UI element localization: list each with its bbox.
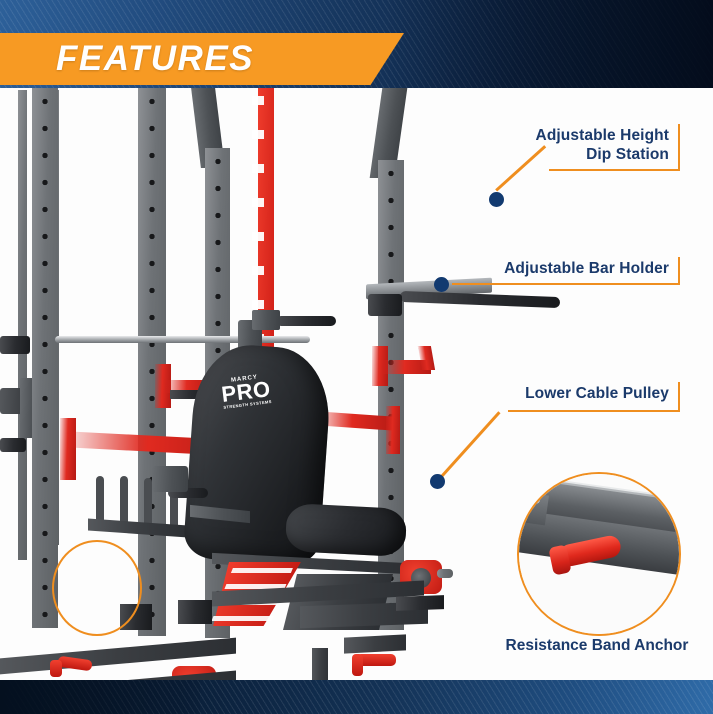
inset-label-resistance-band-anchor: Resistance Band Anchor <box>487 637 707 655</box>
dip-bracket-left <box>252 310 280 330</box>
upright-far-left <box>32 88 58 628</box>
bracket-vertical <box>678 124 681 171</box>
upright-left <box>138 88 166 636</box>
bench-seat <box>285 503 407 557</box>
base-post-lower <box>312 648 328 680</box>
inset-bolt-hole <box>530 496 540 504</box>
bracket-horizontal <box>508 410 680 413</box>
crossbar-right-upper-post <box>386 406 400 454</box>
bracket-horizontal <box>452 283 680 286</box>
base-rail-far-right <box>344 634 406 653</box>
crossbar-left-post <box>60 418 76 480</box>
cable-clamp-lower <box>0 438 26 452</box>
footer-dark-gradient <box>0 680 200 714</box>
cable-clamp-upper <box>0 336 30 354</box>
dip-station-grip-left <box>276 316 336 326</box>
page-title: FEATURES <box>56 37 254 81</box>
callout-bracket-dip-station <box>503 124 680 171</box>
callout-marker-dip-station <box>489 192 504 207</box>
inset-resistance-band-anchor <box>517 472 681 636</box>
pulley-hook-right <box>437 569 453 578</box>
callout-bracket-bar-holder <box>452 257 680 285</box>
bracket-vertical <box>678 382 681 412</box>
callout-marker-cable-pulley <box>430 474 445 489</box>
anchor-cap-left <box>50 660 62 677</box>
smith-bar <box>55 336 310 343</box>
base-foot-mid-2 <box>178 600 212 624</box>
dip-arm-bracket <box>368 294 402 316</box>
anchor-highlight-ellipse <box>52 540 142 636</box>
adjustment-holes <box>42 88 49 628</box>
bench-adjust-lever <box>152 466 188 492</box>
dip-station-grip <box>400 291 560 308</box>
callout-bracket-cable-pulley <box>508 382 680 412</box>
features-infographic: FEATURES <box>0 0 713 714</box>
header-dark-gradient <box>385 0 713 88</box>
callout-marker-bar-holder <box>434 277 449 292</box>
adjustment-holes <box>149 88 156 636</box>
page-footer <box>0 680 713 714</box>
anchor-cap-right <box>352 654 363 676</box>
bracket-vertical <box>678 257 681 285</box>
base-foot-right <box>396 595 444 611</box>
bracket-horizontal <box>549 169 680 172</box>
guide-rod-left <box>18 90 27 560</box>
